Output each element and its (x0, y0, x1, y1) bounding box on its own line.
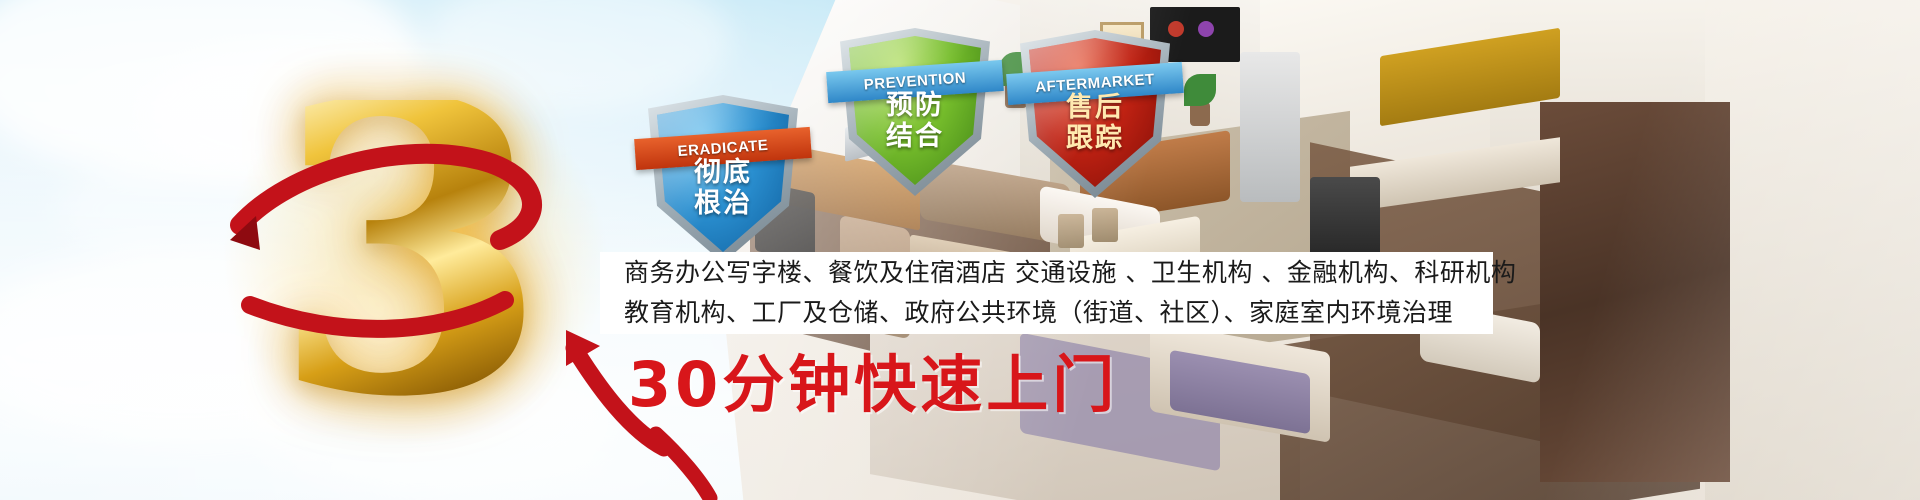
shield-cn-line-2: 根治 (648, 188, 798, 219)
shield-chinese-text: 预防 结合 (840, 90, 990, 152)
shield-badge-aftermarket[interactable]: AFTERMARKET 售后 跟踪 (1020, 30, 1170, 198)
shield-chinese-text: 彻底 根治 (648, 157, 798, 219)
shield-cn-line-1: 售后 (1020, 92, 1170, 123)
promo-banner: 3 ERADICATE 彻底 根治 PREVENTION 预防 结合 AFTER… (0, 0, 1920, 500)
shield-cn-line-2: 跟踪 (1020, 123, 1170, 154)
shield-chinese-text: 售后 跟踪 (1020, 92, 1170, 154)
shield-badge-eradicate[interactable]: ERADICATE 彻底 根治 (648, 95, 798, 263)
gold-numeral-three: 3 (250, 100, 570, 420)
service-scope-line-2: 教育机构、工厂及仓储、政府公共环境（街道、社区）、家庭室内环境治理 (624, 293, 1493, 333)
service-scope-line-1: 商务办公写字楼、餐饮及住宿酒店 交通设施 、卫生机构 、金融机构、科研机构 (624, 253, 1493, 293)
shield-cn-line-1: 预防 (840, 90, 990, 121)
service-scope-panel: 商务办公写字楼、餐饮及住宿酒店 交通设施 、卫生机构 、金融机构、科研机构 教育… (600, 252, 1493, 334)
shield-cn-line-1: 彻底 (648, 157, 798, 188)
headline-30-minute-service: 30分钟快速上门 (628, 350, 1118, 420)
shield-badge-prevention[interactable]: PREVENTION 预防 结合 (840, 28, 990, 196)
shield-cn-line-2: 结合 (840, 121, 990, 152)
